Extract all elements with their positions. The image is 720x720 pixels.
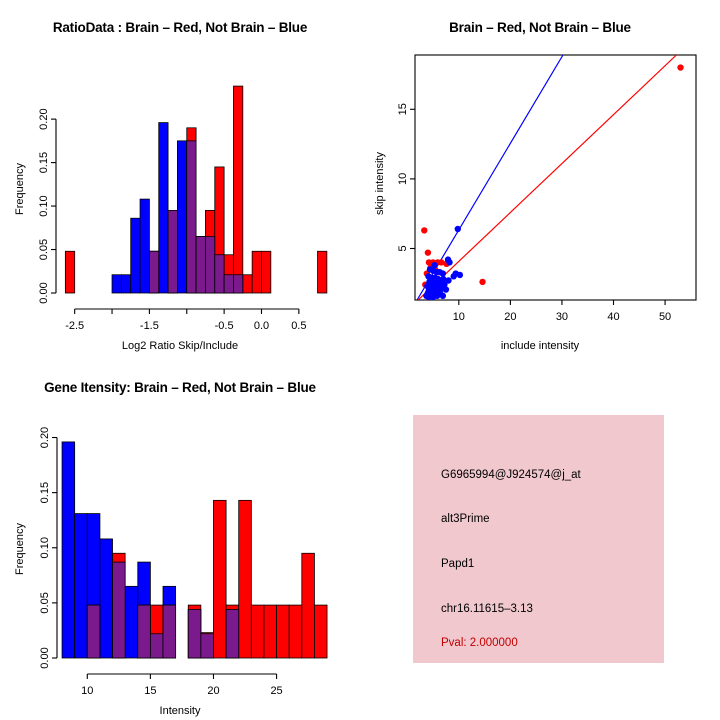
gene-histogram-xlabel: Intensity [0, 705, 360, 717]
x-tick-label: 20 [504, 311, 516, 323]
hist-bar-brain [289, 605, 302, 658]
y-tick-label: 0.20 [39, 427, 51, 448]
hist-bar-not-brain [159, 123, 168, 293]
hist-bar-brain [302, 553, 315, 658]
fit-line-red-fit [418, 55, 676, 300]
info-line-pval: Pval: 2.000000 [441, 637, 518, 649]
scatter-point-brain [677, 64, 683, 70]
hist-bar-overlap [149, 251, 158, 293]
hist-bar-overlap [188, 609, 201, 658]
scatter-point-not-brain [440, 270, 446, 276]
hist-bar-not-brain [125, 586, 138, 658]
scatter-point-brain [425, 249, 431, 255]
y-tick-label: 0.05 [39, 592, 51, 613]
x-tick-label: 20 [207, 685, 219, 697]
info-line-location: chr16.11615–3.13 [441, 603, 533, 615]
hist-bar-overlap [187, 141, 196, 293]
y-tick-label: 0.10 [39, 537, 51, 558]
x-tick-label: -1.5 [140, 320, 159, 332]
hist-bar-overlap [224, 275, 233, 293]
y-tick-label: 0.00 [38, 282, 50, 303]
y-tick-label: 0.15 [39, 482, 51, 503]
hist-bar-overlap [150, 634, 163, 658]
scatter-xlabel: include intensity [360, 340, 720, 352]
y-tick-label: 0.05 [38, 239, 50, 260]
hist-bar-brain [233, 86, 242, 293]
y-tick-label: 0.00 [39, 647, 51, 668]
scatter-inner [417, 55, 684, 301]
x-tick-label: 0.5 [291, 320, 306, 332]
hist-bar-brain [243, 275, 252, 293]
panel-gene-histogram: Gene Itensity: Brain – Red, Not Brain – … [0, 360, 360, 720]
info-panel-box: G6965994@J924574@j_at alt3Prime Papd1 ch… [413, 415, 664, 663]
y-tick-label: 0.20 [38, 108, 50, 129]
y-tick-label: 0.10 [38, 195, 50, 216]
scatter-point-brain [479, 279, 485, 285]
hist-bar-overlap [233, 275, 242, 293]
hist-bar-overlap [205, 236, 214, 293]
scatter-point-not-brain [455, 226, 461, 232]
hist-bar-not-brain [75, 514, 88, 658]
x-tick-label: -2.5 [65, 320, 84, 332]
scatter-point-brain [421, 227, 427, 233]
hist-bar-not-brain [112, 275, 121, 293]
y-tick-label: 15 [397, 103, 409, 115]
hist-bar-overlap [226, 609, 239, 658]
hist-bar-not-brain [100, 539, 113, 658]
hist-bar-not-brain [121, 275, 130, 293]
x-tick-label: 50 [659, 311, 671, 323]
x-tick-label: 25 [270, 685, 282, 697]
scatter-point-not-brain [440, 293, 446, 299]
scatter-point-not-brain [423, 293, 429, 299]
hist-bar-not-brain [62, 442, 75, 658]
x-tick-label: 15 [144, 685, 156, 697]
panel-scatter: Brain – Red, Not Brain – Blue skip inten… [360, 0, 720, 360]
info-line-probeset: G6965994@J924574@j_at [441, 469, 581, 481]
info-line-gene-symbol: Papd1 [441, 558, 474, 570]
hist-bar-overlap [196, 236, 205, 293]
y-tick-label: 10 [397, 173, 409, 185]
hist-bar-overlap [168, 210, 177, 293]
hist-bar-brain [252, 251, 261, 293]
scatter-point-not-brain [446, 259, 452, 265]
hist-bar-overlap [201, 634, 214, 658]
hist-bar-not-brain [131, 218, 140, 293]
panel-info: G6965994@J924574@j_at alt3Prime Papd1 ch… [360, 360, 720, 720]
x-tick-label: -0.5 [215, 320, 234, 332]
ratio-histogram-xlabel: Log2 Ratio Skip/Include [0, 340, 360, 352]
hist-bar-brain [261, 251, 270, 293]
hist-bar-overlap [163, 605, 176, 658]
hist-bar-overlap [138, 605, 151, 658]
scatter-point-not-brain [457, 272, 463, 278]
figure-root: RatioData : Brain – Red, Not Brain – Blu… [0, 0, 720, 720]
hist-bar-brain [239, 500, 252, 658]
x-tick-label: 0.0 [254, 320, 269, 332]
hist-bar-brain [277, 605, 290, 658]
hist-plot-area: 0.000.050.100.150.20-2.5-1.5-0.50.00.5 [38, 86, 327, 332]
x-tick-label: 10 [453, 311, 465, 323]
x-tick-label: 30 [556, 311, 568, 323]
hist-bar-overlap [87, 605, 100, 658]
hist-bar-brain [318, 251, 327, 293]
hist-bar-brain [65, 251, 74, 293]
scatter-plot-area: 510151020304050 [397, 55, 696, 323]
hist-bar-not-brain [177, 141, 186, 293]
y-tick-label: 5 [397, 245, 409, 251]
hist-bar-not-brain [140, 199, 149, 293]
scatter-point-not-brain [450, 273, 456, 279]
info-line-splice-type: alt3Prime [441, 513, 490, 525]
x-tick-label: 10 [81, 685, 93, 697]
hist-bar-brain [314, 605, 327, 658]
hist-bar-brain [251, 605, 264, 658]
panel-ratio-histogram: RatioData : Brain – Red, Not Brain – Blu… [0, 0, 360, 360]
hist-plot-area: 0.000.050.100.150.2010152025 [39, 427, 327, 697]
hist-bar-overlap [113, 562, 126, 658]
hist-bar-brain [213, 500, 226, 658]
hist-bar-overlap [215, 255, 224, 293]
y-tick-label: 0.15 [38, 152, 50, 173]
scatter-point-not-brain [443, 286, 449, 292]
hist-bar-brain [264, 605, 277, 658]
x-tick-label: 40 [607, 311, 619, 323]
